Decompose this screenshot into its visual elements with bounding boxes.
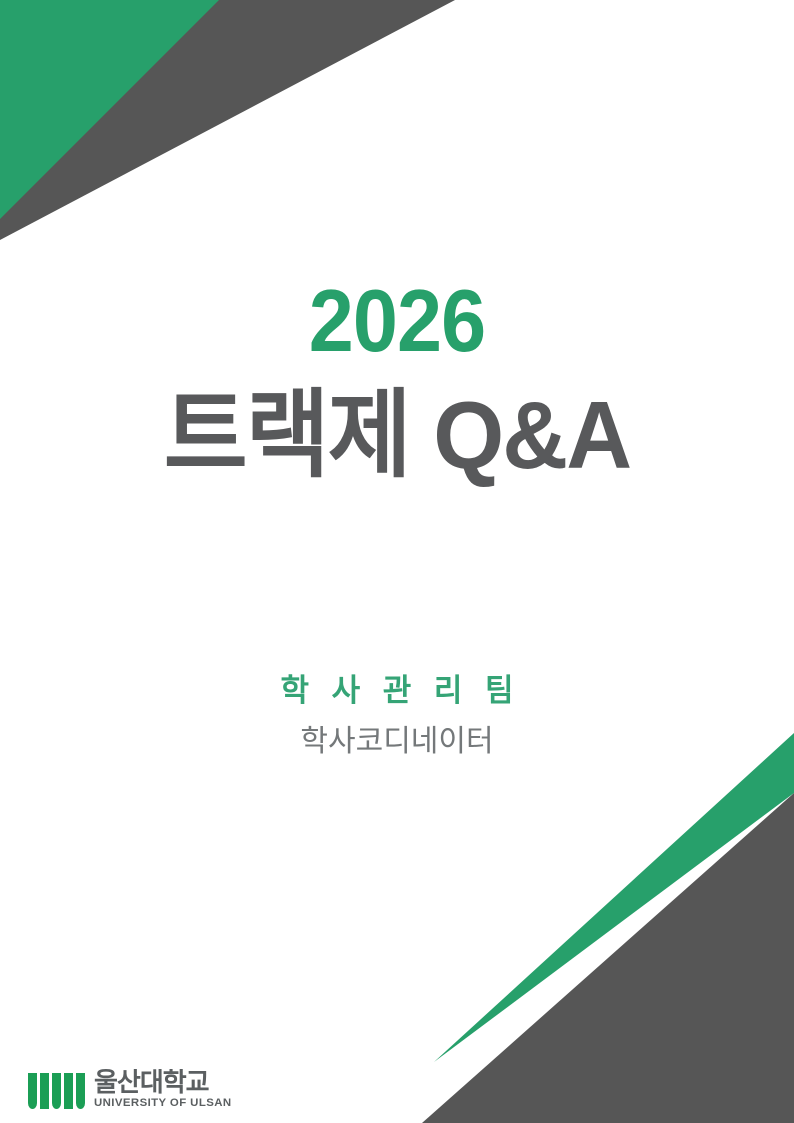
cover-year: 2026 (32, 278, 762, 364)
bottom-right-green-band (434, 733, 794, 1062)
decorative-shapes (0, 0, 794, 1123)
role-name: 학사코디네이터 (0, 723, 794, 761)
logo-wordmark: 울산대학교 UNIVERSITY OF ULSAN (94, 1069, 229, 1109)
subtitle-block: 학 사 관 리 팀 학사코디네이터 (0, 672, 794, 760)
university-logo: 울산대학교 UNIVERSITY OF ULSAN (28, 1069, 229, 1109)
top-left-green-triangle (0, 0, 219, 219)
cover-page: 2026 트랙제 Q&A 학 사 관 리 팀 학사코디네이터 울산대학교 UNI… (0, 0, 794, 1123)
team-name: 학 사 관 리 팀 (0, 672, 794, 711)
bottom-right-gray-triangle (422, 793, 794, 1123)
ulsan-bars-icon (28, 1073, 86, 1109)
logo-name-english: UNIVERSITY OF ULSAN (94, 1098, 232, 1109)
cover-title: 트랙제 Q&A (20, 386, 774, 487)
logo-name-korean: 울산대학교 (94, 1069, 209, 1096)
title-block: 2026 트랙제 Q&A (0, 278, 794, 487)
top-left-gray-triangle (0, 0, 455, 240)
